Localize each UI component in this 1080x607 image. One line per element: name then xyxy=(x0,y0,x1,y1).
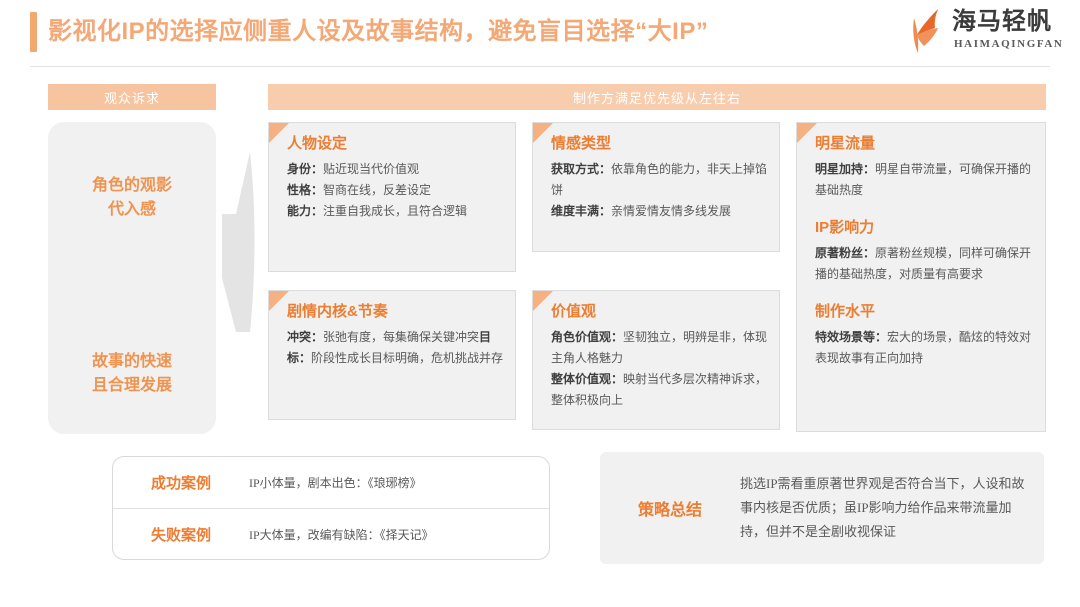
page-title: 影视化IP的选择应侧重人设及故事结构，避免盲目选择“大IP” xyxy=(48,12,708,52)
card-line-key: 特效场景等： xyxy=(815,330,887,344)
card-values: 价值观 角色价值观：坚韧独立，明辨是非，体现主角人格魅力 整体价值观：映射当代多… xyxy=(532,290,780,430)
card-line-text: 注重自我成长，且符合逻辑 xyxy=(323,204,467,218)
case-row-failure: 失败案例 IP大体量，改编有缺陷：《择天记》 xyxy=(113,508,549,560)
card-line-text: 亲情爱情友情多线发展 xyxy=(611,204,731,218)
card-line-key: 性格： xyxy=(287,183,323,197)
card-line-text: 贴近现当代价值观 xyxy=(323,162,419,176)
card-line-key: 角色价值观： xyxy=(551,330,623,344)
card-line: 明星加持：明星自带流量，可确保开播的基础热度 xyxy=(815,159,1035,201)
header-divider xyxy=(30,66,1050,67)
card-line-key: 能力： xyxy=(287,204,323,218)
card-line: 身份：贴近现当代价值观 xyxy=(287,159,505,180)
card-character-setting: 人物设定 身份：贴近现当代价值观 性格：智商在线，反差设定 能力：注重自我成长，… xyxy=(268,122,516,272)
card-line: 冲突：张弛有度，每集确保关键冲突目标：阶段性成长目标明确，危机挑战并存 xyxy=(287,327,505,369)
card-heading: IP影响力 xyxy=(815,217,1035,239)
corner-flag-icon xyxy=(797,123,817,143)
card-line-key: 身份： xyxy=(287,162,323,176)
band-producer-priority: 制作方满足优先级从左往右 xyxy=(268,84,1046,110)
card-line-key: 原著粉丝： xyxy=(815,246,875,260)
corner-flag-icon xyxy=(533,123,553,143)
card-line-text: 智商在线，反差设定 xyxy=(323,183,431,197)
card-line-key: 明星加持： xyxy=(815,162,875,176)
card-heading: 剧情内核&节奏 xyxy=(287,301,505,323)
card-line-key: 冲突： xyxy=(287,330,323,344)
card-line: 维度丰满：亲情爱情友情多线发展 xyxy=(551,201,769,222)
brand-logo: 海马轻帆 HAIMAQINGFAN xyxy=(908,6,1058,60)
strategy-summary-text: 挑选IP需看重原著世界观是否符合当下，人设和故事内核是否优质；虽IP影响力给作品… xyxy=(740,472,1044,544)
card-heading: 情感类型 xyxy=(551,133,769,155)
audience-demand-item-line: 代入感 xyxy=(48,198,216,222)
corner-flag-icon xyxy=(269,291,289,311)
case-label: 成功案例 xyxy=(113,472,249,493)
corner-flag-icon xyxy=(269,123,289,143)
case-text: IP小体量，剧本出色：《琅琊榜》 xyxy=(249,474,422,491)
card-star-ip-production: 明星流量 明星加持：明星自带流量，可确保开播的基础热度 IP影响力 原著粉丝：原… xyxy=(796,122,1046,432)
card-line-key: 维度丰满： xyxy=(551,204,611,218)
card-line: 获取方式：依靠角色的能力，非天上掉馅饼 xyxy=(551,159,769,201)
card-heading: 人物设定 xyxy=(287,133,505,155)
card-line-text: 阶段性成长目标明确，危机挑战并存 xyxy=(311,351,503,365)
strategy-summary-box: 策略总结 挑选IP需看重原著世界观是否符合当下，人设和故事内核是否优质；虽IP影… xyxy=(600,452,1044,564)
audience-demand-item-line: 角色的观影 xyxy=(48,174,216,198)
card-line: 性格：智商在线，反差设定 xyxy=(287,180,505,201)
logo-wordmark: 海马轻帆 xyxy=(952,8,1052,36)
card-line: 整体价值观：映射当代多层次精神诉求，整体积极向上 xyxy=(551,369,769,411)
audience-demand-item: 故事的快速 且合理发展 xyxy=(48,350,216,398)
card-line: 原著粉丝：原著粉丝规模，同样可确保开播的基础热度，对质量有高要求 xyxy=(815,243,1035,285)
logo-pinyin: HAIMAQINGFAN xyxy=(954,38,1063,50)
page-header: 影视化IP的选择应侧重人设及故事结构，避免盲目选择“大IP” 海马轻帆 HAIM… xyxy=(0,0,1080,66)
card-line-key: 整体价值观： xyxy=(551,372,623,386)
audience-demand-item: 角色的观影 代入感 xyxy=(48,174,216,222)
card-line: 角色价值观：坚韧独立，明辨是非，体现主角人格魅力 xyxy=(551,327,769,369)
audience-demand-item-line: 且合理发展 xyxy=(48,374,216,398)
card-heading: 制作水平 xyxy=(815,301,1035,323)
card-line: 能力：注重自我成长，且符合逻辑 xyxy=(287,201,505,222)
audience-demand-panel: 角色的观影 代入感 故事的快速 且合理发展 xyxy=(48,122,216,434)
right-arrow-icon xyxy=(220,152,268,332)
card-heading: 价值观 xyxy=(551,301,769,323)
audience-demand-item-line: 故事的快速 xyxy=(48,350,216,374)
case-study-box: 成功案例 IP小体量，剧本出色：《琅琊榜》 失败案例 IP大体量，改编有缺陷：《… xyxy=(112,456,550,560)
case-text: IP大体量，改编有缺陷：《择天记》 xyxy=(249,526,434,543)
card-line-key: 获取方式： xyxy=(551,162,611,176)
card-heading: 明星流量 xyxy=(815,133,1035,155)
sail-logo-icon xyxy=(908,8,950,54)
title-accent-bar xyxy=(30,12,37,52)
corner-flag-icon xyxy=(533,291,553,311)
band-audience-demand: 观众诉求 xyxy=(48,84,216,110)
card-emotion-type: 情感类型 获取方式：依靠角色的能力，非天上掉馅饼 维度丰满：亲情爱情友情多线发展 xyxy=(532,122,780,252)
card-line-text: 张弛有度，每集确保关键冲突 xyxy=(323,330,479,344)
case-label: 失败案例 xyxy=(113,524,249,545)
case-row-success: 成功案例 IP小体量，剧本出色：《琅琊榜》 xyxy=(113,457,549,508)
strategy-summary-label: 策略总结 xyxy=(600,496,740,520)
card-line: 特效场景等：宏大的场景，酷炫的特效对表现故事有正向加持 xyxy=(815,327,1035,369)
card-plot-core-rhythm: 剧情内核&节奏 冲突：张弛有度，每集确保关键冲突目标：阶段性成长目标明确，危机挑… xyxy=(268,290,516,420)
